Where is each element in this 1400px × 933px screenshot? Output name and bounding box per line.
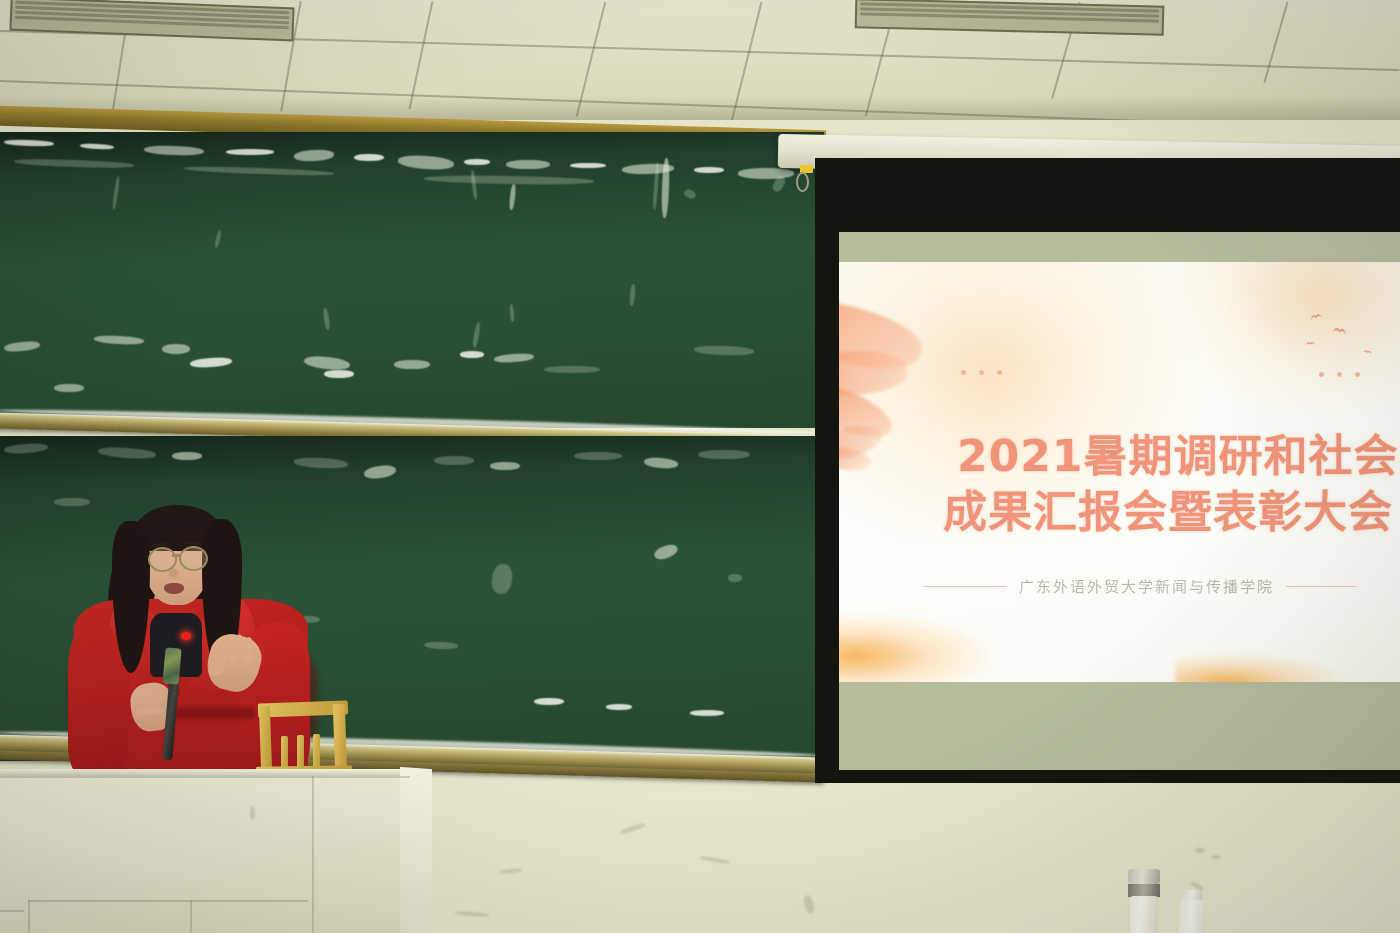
slide-glow [1169, 262, 1400, 412]
three-dots-motif-right [1319, 372, 1360, 377]
classroom-photo-scene: 2021暑期调研和社会实践 成果汇报会暨表彰大会 广东外语外贸大学新闻与传播学院 [0, 0, 1400, 933]
chair-back-post-left [259, 706, 272, 772]
lectern-panel-seam [28, 900, 30, 933]
slide-title-line-2: 成果汇报会暨表彰大会 [943, 476, 1393, 540]
water-bottle[interactable] [1179, 900, 1206, 933]
mouth [164, 583, 184, 594]
slide-subtitle-row: 广东外语外贸大学新闻与传播学院 [923, 576, 1356, 597]
microphone-led-indicator [181, 632, 191, 640]
flying-bird-icon [1330, 323, 1349, 339]
lectern-panel-seam [28, 900, 308, 902]
screen-pull-hook[interactable] [796, 172, 809, 192]
ceiling-seam [1263, 2, 1288, 83]
lectern-podium[interactable] [0, 776, 406, 933]
lectern-side-panel [400, 767, 432, 933]
flying-bird-icon [1308, 309, 1324, 325]
lectern-panel-seam [0, 776, 410, 778]
golden-confetti-motif [839, 614, 989, 682]
projector-screen-surface[interactable]: 2021暑期调研和社会实践 成果汇报会暨表彰大会 广东外语外贸大学新闻与传播学院 [839, 232, 1400, 770]
thermos-tumbler-lid [1128, 869, 1160, 884]
ceiling-air-vent [855, 0, 1165, 36]
slide-title-line-1: 2021暑期调研和社会实践 [957, 420, 1400, 484]
slide-content-area: 2021暑期调研和社会实践 成果汇报会暨表彰大会 广东外语外贸大学新闻与传播学院 [839, 262, 1400, 682]
flying-bird-icon [1305, 336, 1317, 350]
nose [169, 569, 178, 577]
wall-mark [1212, 855, 1220, 859]
ceiling-air-vent [9, 0, 294, 41]
glasses-lens-right [179, 546, 208, 571]
subtitle-rule-right [1286, 586, 1356, 587]
three-dots-motif-left [961, 370, 1002, 375]
lectern-panel-seam [0, 910, 24, 912]
microphone-grip-band [162, 647, 181, 684]
golden-confetti-motif [1175, 654, 1345, 682]
slide-subtitle: 广东外语外贸大学新闻与传播学院 [1019, 576, 1274, 597]
green-chalkboard [0, 132, 824, 428]
lectern-mark [250, 806, 255, 820]
wall-mark [1195, 848, 1205, 853]
thermos-tumbler[interactable] [1130, 896, 1158, 933]
lectern-panel-seam [190, 900, 192, 933]
glasses-bridge [172, 554, 181, 557]
lectern-panel-seam [312, 776, 314, 933]
ceiling-seam [409, 1, 433, 109]
chair-back-post-right [333, 704, 347, 774]
subtitle-rule-left [923, 586, 1007, 587]
flying-bird-icon [1362, 343, 1375, 358]
